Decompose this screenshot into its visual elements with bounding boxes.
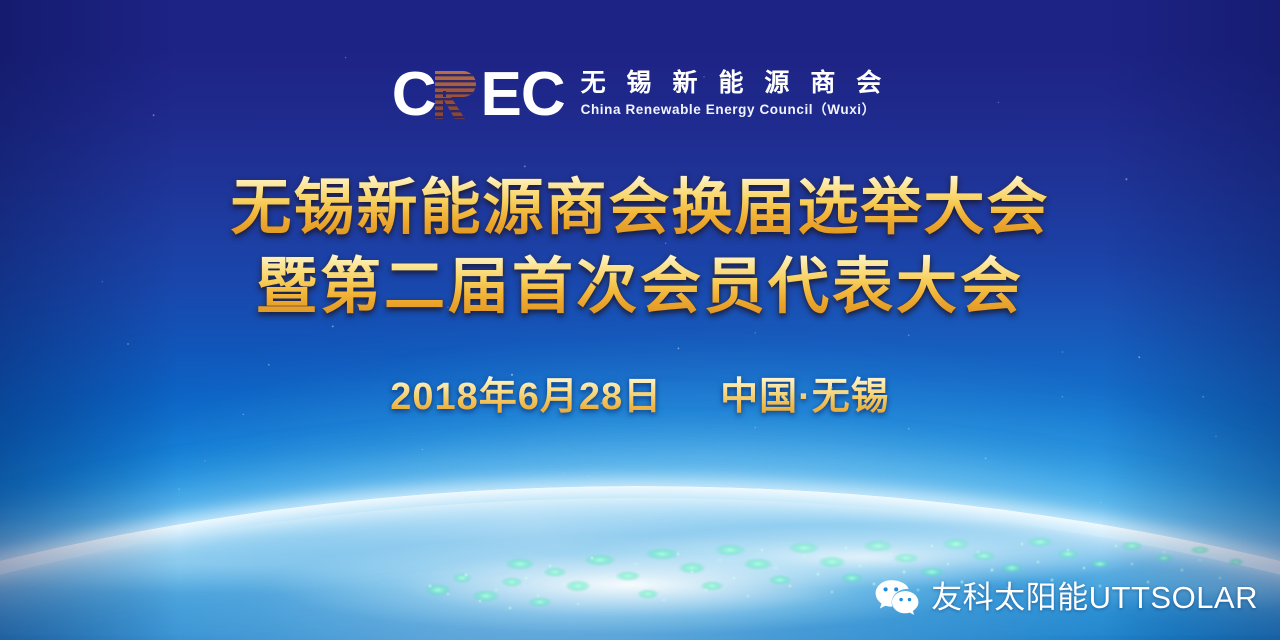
organization-name-block: 无 锡 新 能 源 商 会 China Renewable Energy Cou…: [581, 69, 889, 120]
wechat-account-label: 友科太阳能UTTSOLAR: [931, 580, 1258, 616]
conference-banner: C: [0, 0, 1280, 640]
wechat-icon: [874, 578, 920, 618]
wechat-watermark: 友科太阳能UTTSOLAR: [874, 578, 1258, 618]
crec-letter-c1: C: [392, 64, 436, 126]
event-date: 2018年6月28日: [390, 373, 662, 421]
organization-name-cn: 无 锡 新 能 源 商 会: [581, 69, 889, 99]
crec-logo-lockup: C: [0, 64, 1280, 126]
crec-wordmark: C: [392, 64, 565, 126]
headline-line-2: 暨第二届首次会员代表大会: [0, 247, 1280, 326]
crec-letter-e: E: [480, 64, 520, 126]
organization-name-en: China Renewable Energy Council（Wuxi）: [581, 102, 889, 119]
headline-line-1: 无锡新能源商会换届选举大会: [0, 168, 1280, 247]
event-meta-row: 2018年6月28日 中国·无锡: [0, 373, 1280, 421]
event-location: 中国·无锡: [720, 373, 890, 421]
crec-striped-r-icon: [433, 69, 479, 121]
crec-letter-c2: C: [521, 64, 565, 126]
page-title: 无锡新能源商会换届选举大会 暨第二届首次会员代表大会: [0, 168, 1280, 326]
